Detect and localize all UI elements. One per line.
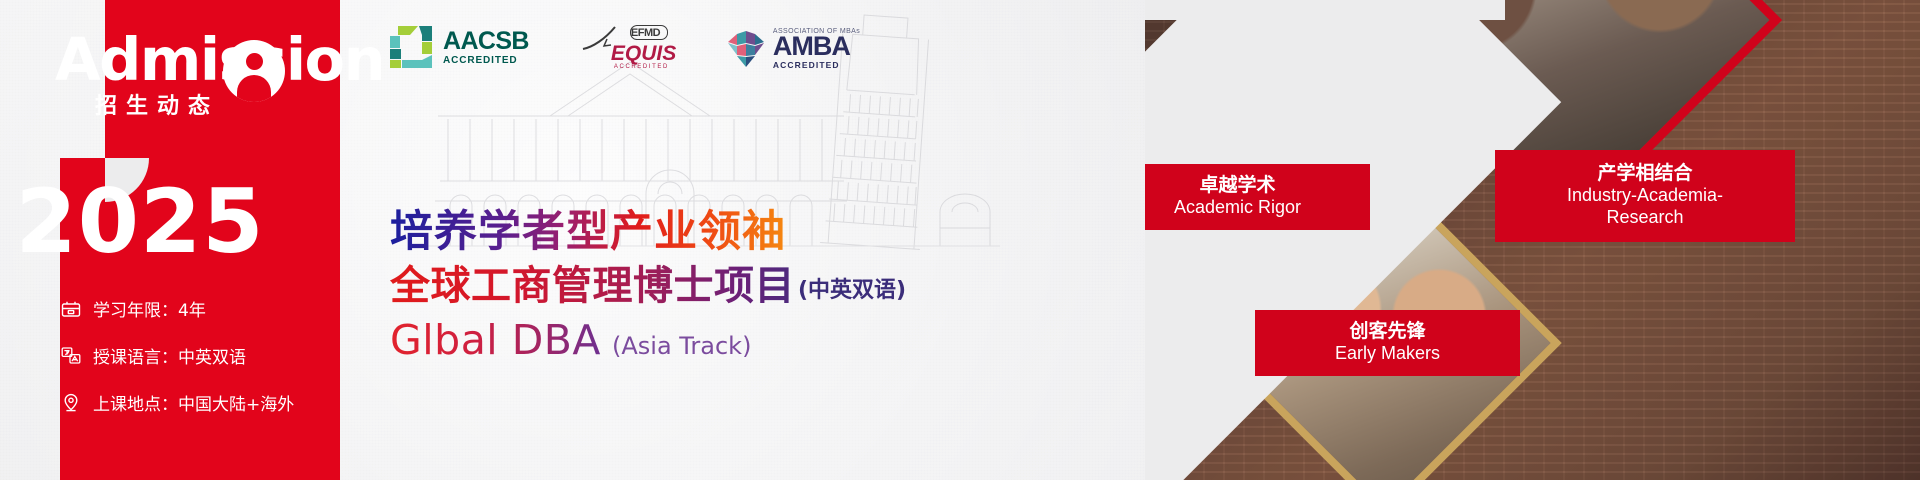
equis-label: EQUIS	[611, 42, 676, 66]
aacsb-accreditation: AACSB ACCREDITED	[388, 24, 529, 70]
equis-accreditation: EFMD EQUIS ACCREDITED	[581, 22, 673, 70]
headline-line-2-suffix: (中英双语)	[798, 272, 906, 309]
list-item: 上课地点：中国大陆+海外	[60, 390, 294, 415]
highlight-label-makers: 创客先锋 Early Makers	[1255, 320, 1520, 365]
logo-wordmark: Admission	[55, 30, 384, 89]
calendar-icon	[60, 298, 82, 320]
aacsb-sublabel: ACCREDITED	[443, 56, 529, 66]
amba-label: AMBA	[773, 33, 860, 60]
highlight-label-cn: 产学相结合	[1500, 162, 1790, 185]
collage-top-mask	[1145, 0, 1505, 20]
amba-sublabel: ACCREDITED	[773, 61, 860, 70]
highlights-collage: 产学相结合 Industry-Academia-Research 卓越学术 Ac…	[1145, 0, 1920, 480]
admission-banner: Admission 招生动态 2025 学习年限：4年	[0, 0, 1920, 480]
program-facts-list: 学习年限：4年 授课语言：中英双语 上课地点：中国大陆	[60, 296, 294, 437]
highlight-label-cn: 创客先锋	[1255, 320, 1520, 343]
list-item-label: 学习年限：4年	[93, 296, 206, 321]
efmd-label: EFMD	[631, 27, 660, 39]
highlight-label-en: Academic Rigor	[1145, 197, 1370, 219]
aacsb-logo-icon	[388, 24, 434, 70]
person-circle-icon	[223, 40, 285, 102]
highlight-label-industry: 产学相结合 Industry-Academia-Research	[1500, 162, 1790, 229]
equis-sublabel: ACCREDITED	[614, 64, 669, 70]
language-icon	[60, 345, 82, 367]
list-item-label: 上课地点：中国大陆+海外	[93, 390, 294, 415]
list-item: 授课语言：中英双语	[60, 343, 294, 368]
headline-line-3: Glbal DBA	[390, 318, 601, 363]
highlight-label-cn: 卓越学术	[1145, 174, 1370, 197]
year-label: 2025	[0, 178, 280, 266]
headline-line-3-suffix: (Asia Track)	[612, 332, 751, 360]
highlight-label-academic: 卓越学术 Academic Rigor	[1145, 174, 1370, 219]
list-item: 学习年限：4年	[60, 296, 294, 321]
aacsb-label: AACSB	[443, 29, 529, 54]
list-item-label: 授课语言：中英双语	[93, 343, 246, 368]
amba-accreditation: ASSOCIATION OF MBAs AMBA ACCREDITED	[725, 28, 860, 70]
headline-line-2-row: 全球工商管理博士项目 (中英双语)	[390, 263, 906, 309]
headline-line-3-row: Glbal DBA (Asia Track)	[390, 318, 906, 363]
headline-line-2: 全球工商管理博士项目	[390, 263, 795, 309]
headline-line-1: 培养学者型产业领袖	[390, 208, 906, 256]
highlight-label-en: Early Makers	[1255, 343, 1520, 365]
equis-logo-icon: EFMD EQUIS ACCREDITED	[581, 22, 673, 70]
accreditation-logos: AACSB ACCREDITED EFMD EQUIS ACCREDITED	[388, 22, 860, 70]
location-icon	[60, 392, 82, 414]
amba-logo-icon	[725, 28, 767, 70]
admission-logo: Admission 招生动态	[55, 28, 295, 138]
highlight-label-en: Industry-Academia-Research	[1500, 185, 1790, 229]
logo-wordmark-cn: 招生动态	[95, 88, 219, 120]
headline-block: 培养学者型产业领袖 全球工商管理博士项目 (中英双语) Glbal DBA (A…	[390, 208, 906, 363]
